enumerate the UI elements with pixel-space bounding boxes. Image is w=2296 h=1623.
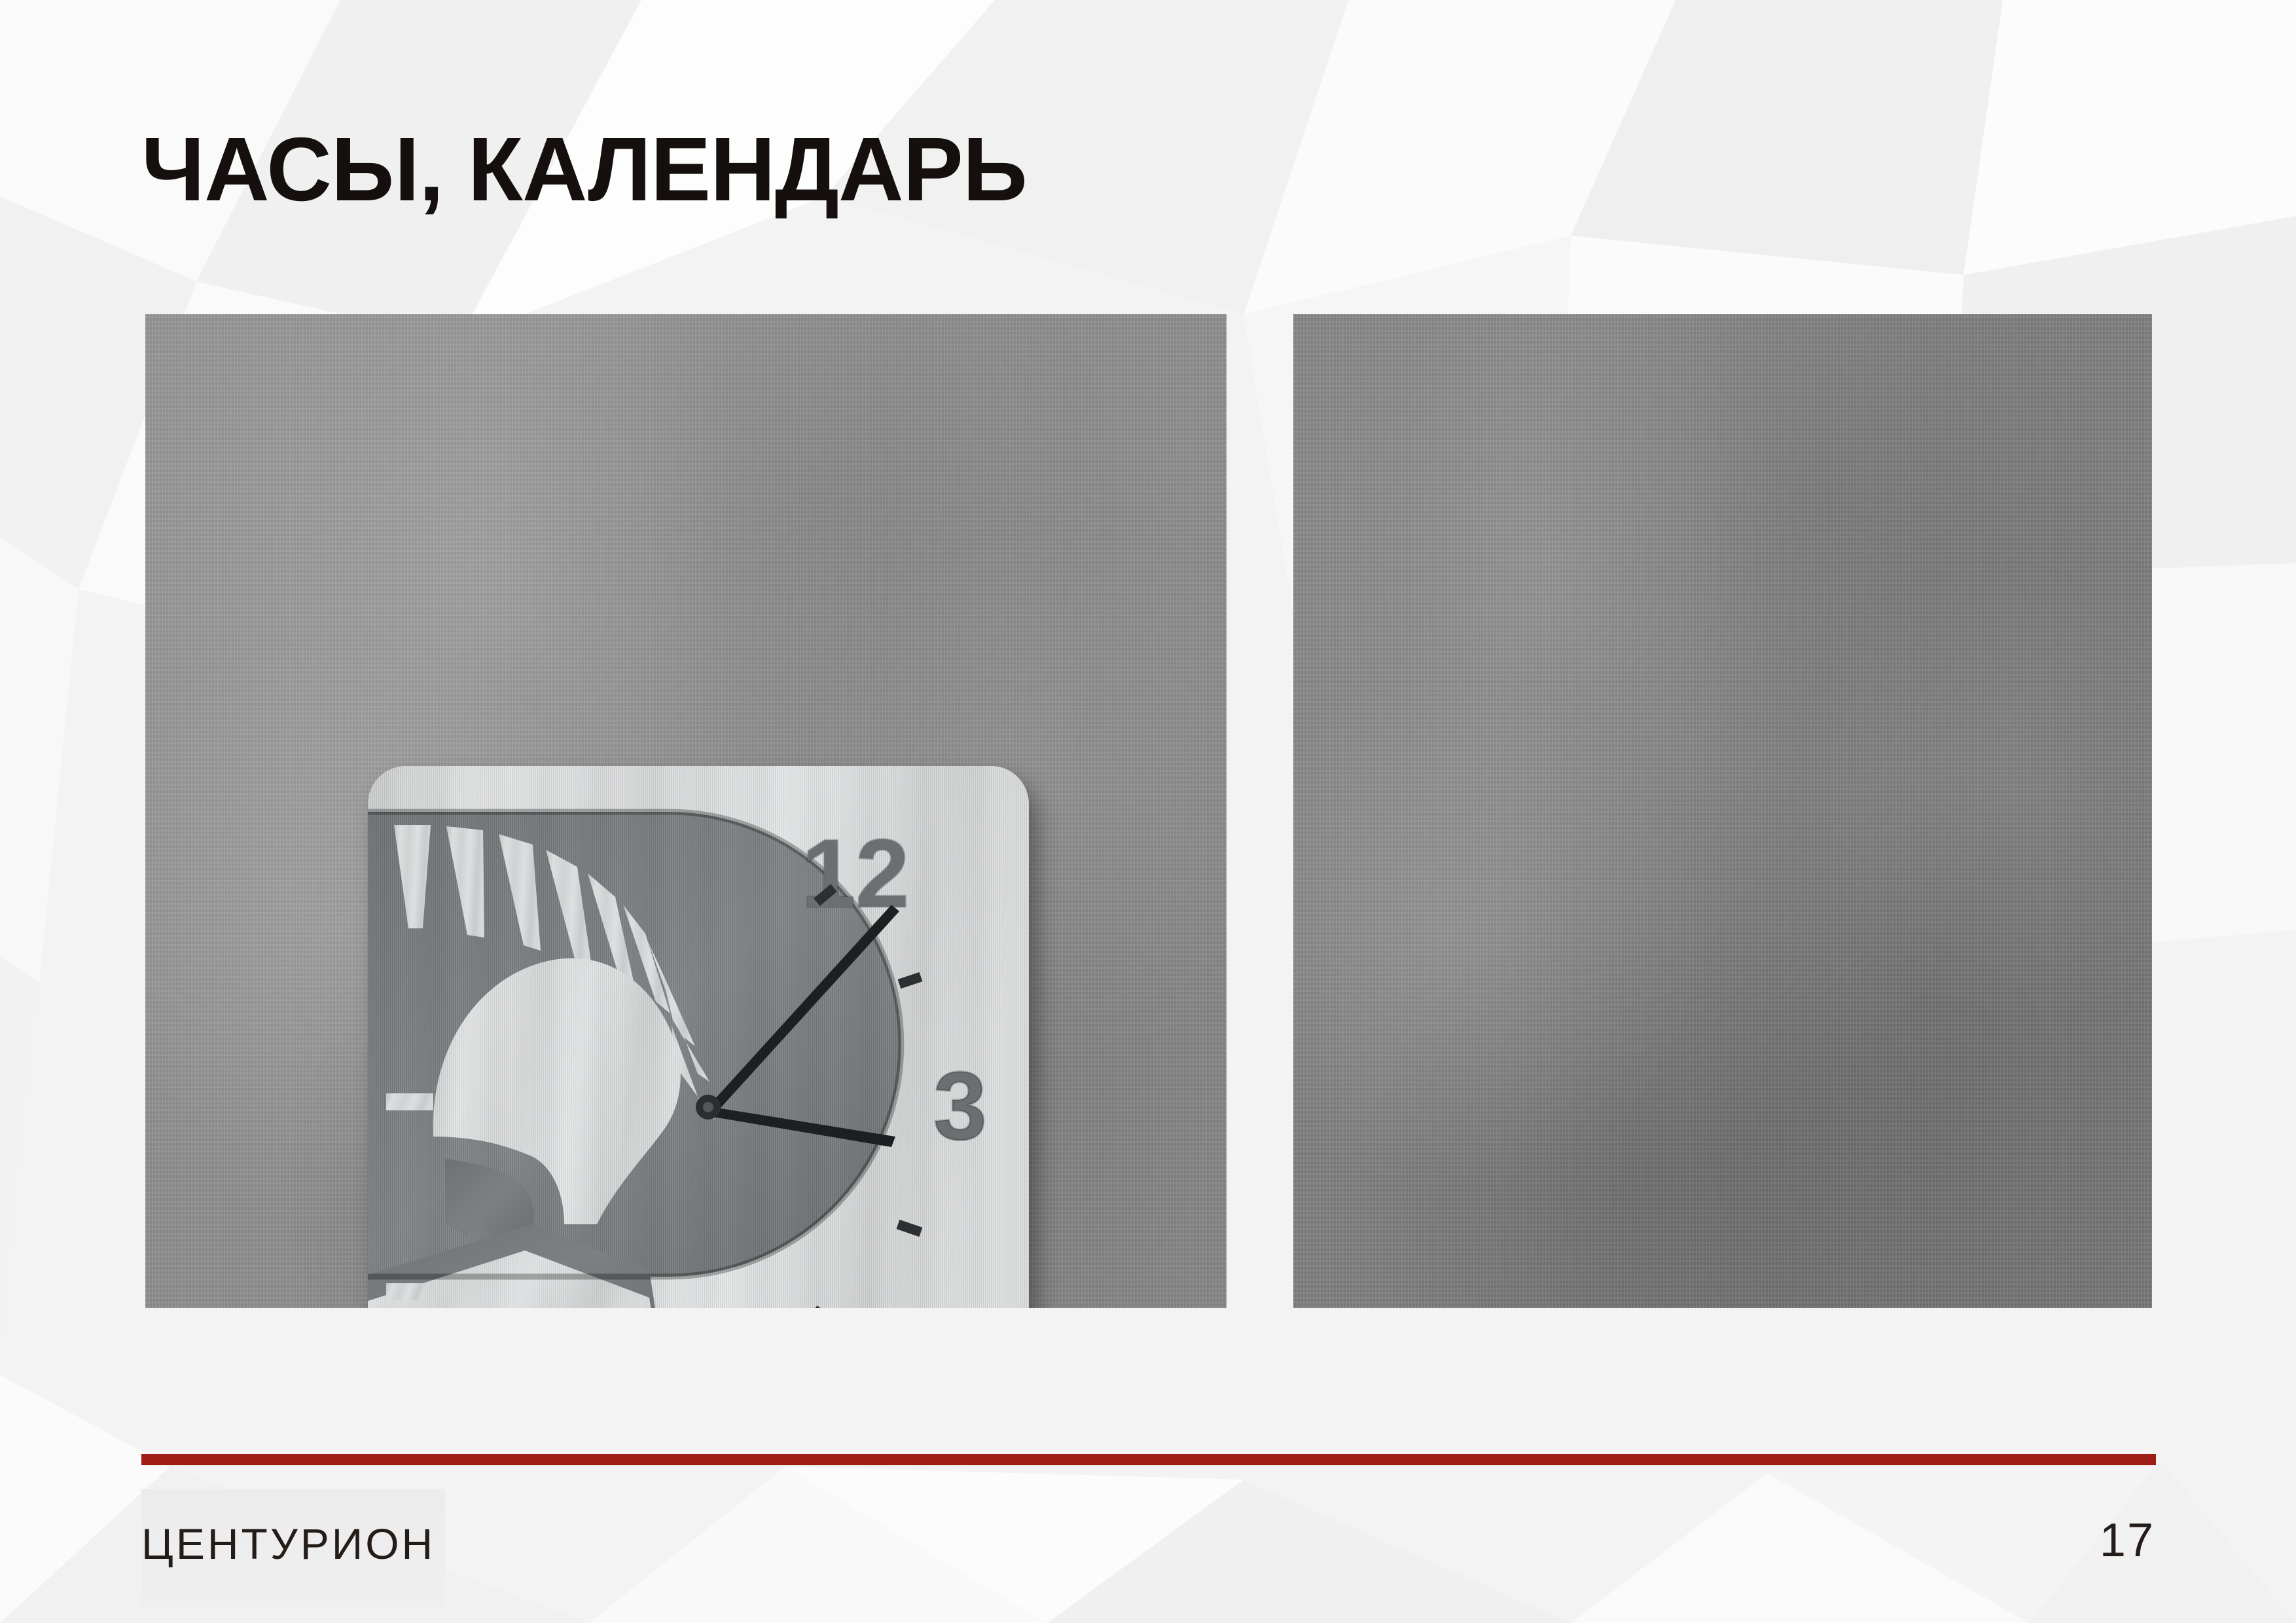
clock-photo-panel: 12 3 6 <box>145 314 1227 1308</box>
concrete-wall-backdrop-2 <box>1293 314 2152 1308</box>
svg-text:3: 3 <box>933 1052 987 1160</box>
page-title: ЧАСЫ, КАЛЕНДАРЬ <box>141 118 1027 222</box>
clock-face: 12 3 6 <box>368 766 1029 1308</box>
footer-divider-rule <box>141 1454 2156 1465</box>
calendar-photo-panel: 2025 <box>1293 314 2152 1308</box>
wall-clock: 12 3 6 <box>368 766 1029 1308</box>
footer-brand: ЦЕНТУРИОН <box>141 1519 435 1569</box>
page-number: 17 <box>2100 1514 2155 1567</box>
